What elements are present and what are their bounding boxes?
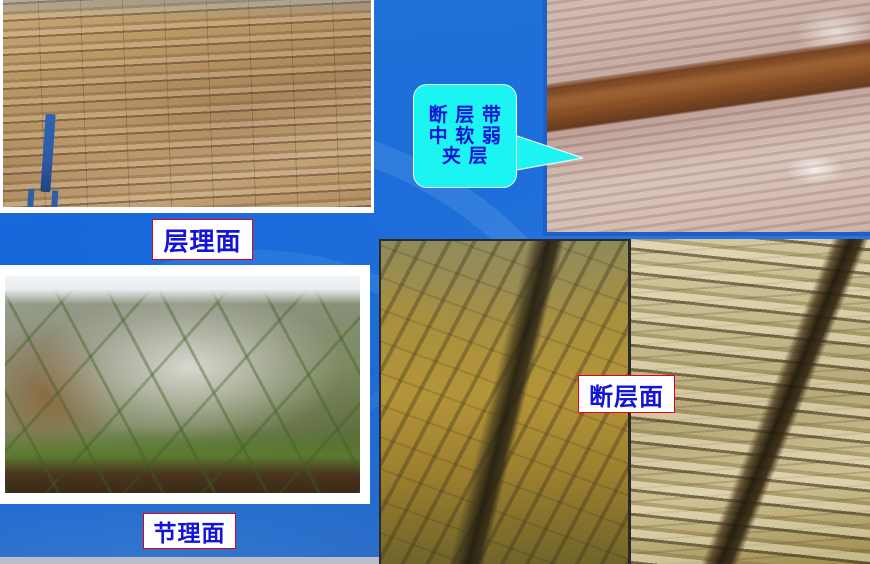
caption-joint-plane: 节理面 xyxy=(143,513,236,549)
callout-bubble-weak-interlayer: 断 层 带 中 软 弱 夹 层 xyxy=(413,84,517,188)
photo-bedding-outcrop xyxy=(3,0,371,207)
photo-fault-zone-interlayer xyxy=(543,0,870,236)
callout-bubble-text: 断 层 带 中 软 弱 夹 层 xyxy=(425,105,506,167)
callout-line-2: 中 软 弱 xyxy=(429,126,502,147)
caption-joint-plane-text: 节理面 xyxy=(154,514,226,548)
photo-card-bedding-outcrop xyxy=(0,0,374,213)
photo-card-jointed-rock-slope xyxy=(0,265,370,504)
photo-jointed-rock-slope xyxy=(5,276,360,493)
callout-line-1: 断 层 带 xyxy=(429,105,502,126)
caption-bedding-plane: 层理面 xyxy=(152,219,253,260)
caption-fault-plane-text: 断层面 xyxy=(589,377,664,412)
slide-canvas: 断 层 带 中 软 弱 夹 层 层理面 断层面 节理面 xyxy=(0,0,870,564)
photo-bedding-outcrop-image xyxy=(3,0,371,207)
photo-jointed-rock-slope-image xyxy=(5,276,360,493)
photo-fault-zone-interlayer-image xyxy=(547,0,870,232)
callout-line-3: 夹 层 xyxy=(429,146,502,167)
caption-bedding-plane-text: 层理面 xyxy=(163,222,241,258)
caption-fault-plane: 断层面 xyxy=(578,375,675,413)
